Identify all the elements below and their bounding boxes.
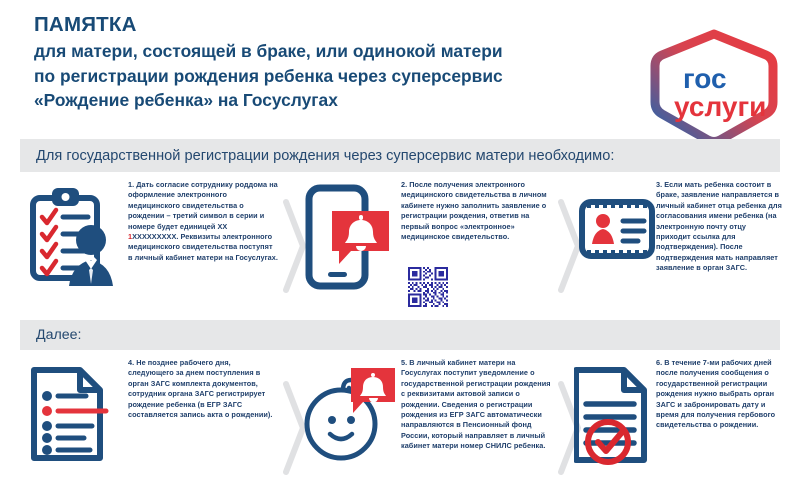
steps-row-second: 4. Не позднее рабочего дня, следующего з… (20, 354, 780, 501)
step-2-text: 2. После получения электронного медицинс… (401, 180, 555, 242)
step-4: 4. Не позднее рабочего дня, следующего з… (28, 354, 280, 501)
subtitle-line-1: для матери, состоящей в браке, или одино… (34, 39, 624, 64)
logo-text-gos: гос (683, 63, 727, 94)
header: ПАМЯТКА для матери, состоящей в браке, и… (0, 0, 800, 136)
document-bullet-list-icon (28, 364, 128, 474)
clipboard-checklist-person-icon (28, 184, 128, 294)
step-1-text-before: 1. Дать согласие сотруднику роддома на о… (128, 180, 278, 231)
subtitle-line-3: «Рождение ребенка» на Госуслугах (34, 88, 624, 113)
step-3-text: 3. Если мать ребенка состоит в браке, за… (656, 180, 782, 274)
subtitle-line-2: по регистрации рождения ребенка через су… (34, 64, 624, 89)
page-title: ПАМЯТКА (34, 12, 624, 38)
baby-face-notification-icon (303, 368, 403, 478)
gosuslugi-logo: гос услуги (640, 28, 788, 146)
banner-first: Для государственной регистрации рождения… (20, 139, 780, 172)
banner-first-text: Для государственной регистрации рождения… (36, 148, 614, 164)
step-4-text: 4. Не позднее рабочего дня, следующего з… (128, 358, 278, 420)
qr-code (408, 267, 448, 307)
steps-row-first: 1. Дать согласие сотруднику роддома на о… (20, 176, 780, 316)
banner-second-text: Далее: (36, 327, 82, 343)
title-block: ПАМЯТКА для матери, состоящей в браке, и… (34, 12, 624, 113)
step-6: 6. В течение 7-ми рабочих дней после пол… (578, 354, 780, 501)
step-5: 5. В личный кабинет матери на Госуслугах… (303, 354, 555, 501)
smartphone-notification-bell-icon (303, 184, 403, 294)
step-1: 1. Дать согласие сотруднику роддома на о… (28, 176, 280, 316)
infographic-page: ПАМЯТКА для матери, состоящей в браке, и… (0, 0, 800, 501)
step-6-text: 6. В течение 7-ми рабочих дней после пол… (656, 358, 782, 431)
step-5-text: 5. В личный кабинет матери на Госуслугах… (401, 358, 555, 452)
step-3: 3. Если мать ребенка состоит в браке, за… (578, 176, 780, 316)
logo-text-uslugi: услуги (674, 91, 766, 122)
banner-second: Далее: (20, 320, 780, 350)
step-1-text: 1. Дать согласие сотруднику роддома на о… (128, 180, 278, 263)
step-1-text-after: XXXXXXXXX. Реквизиты электронного медици… (128, 232, 278, 262)
